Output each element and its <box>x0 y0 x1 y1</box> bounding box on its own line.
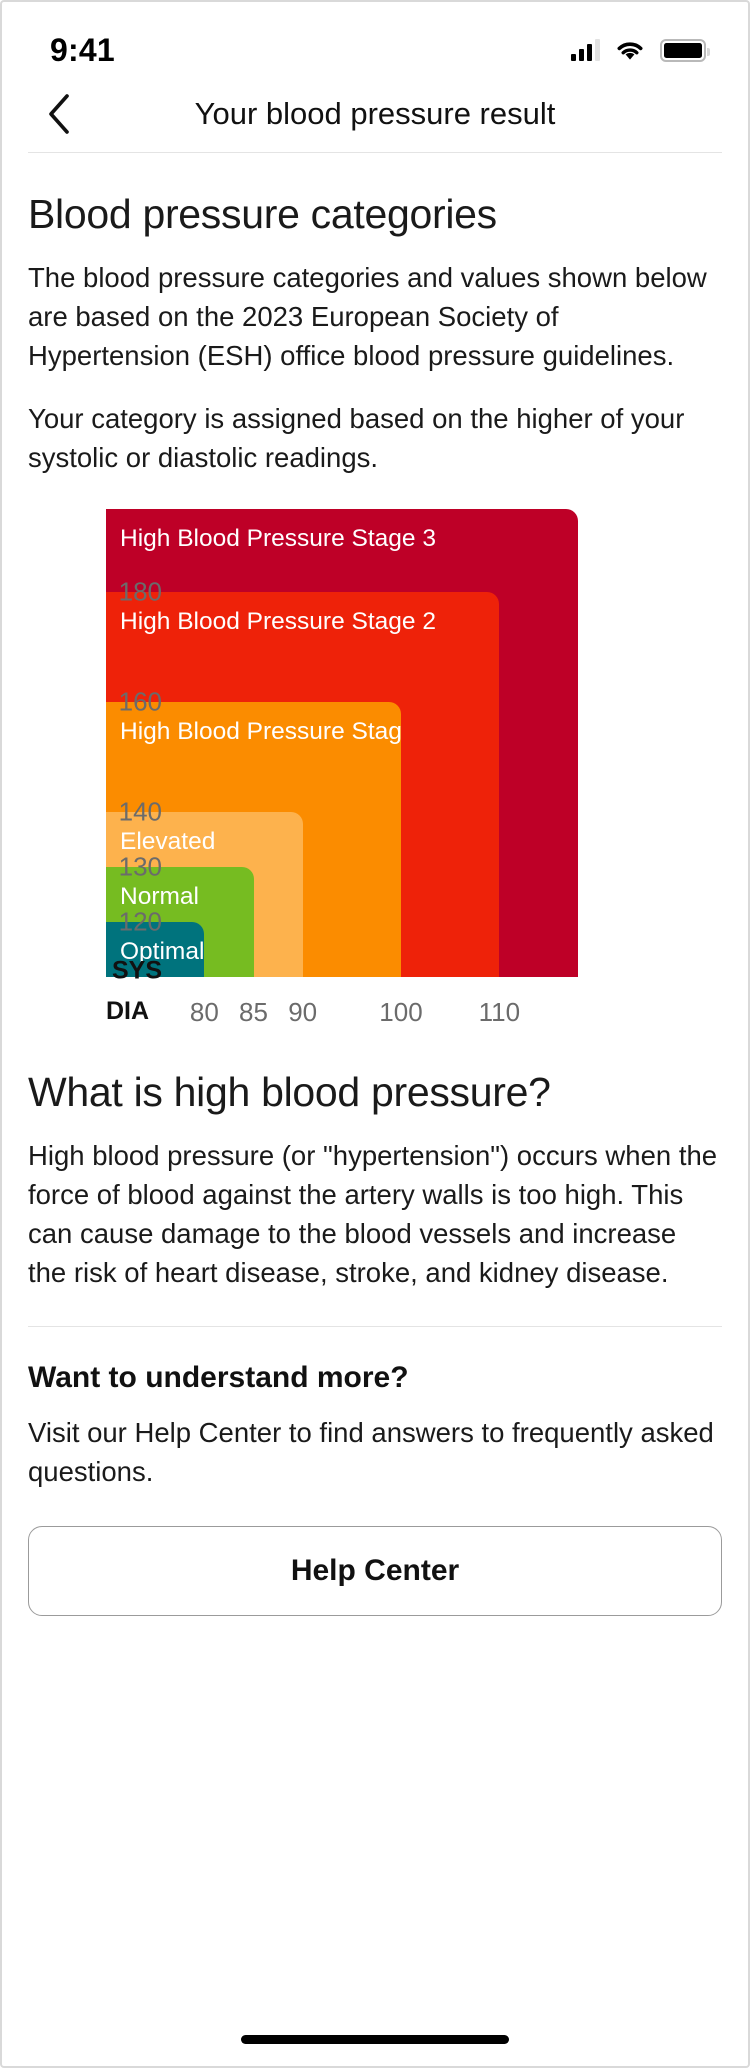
what-is-heading: What is high blood pressure? <box>28 1069 722 1116</box>
home-indicator <box>241 2035 509 2044</box>
main-content: Blood pressure categories The blood pres… <box>2 191 748 1616</box>
content-divider <box>28 1326 722 1327</box>
y-axis-tick: 140 <box>72 797 162 828</box>
header-divider <box>28 152 722 153</box>
x-axis-label: DIA <box>106 997 149 1026</box>
battery-full-icon <box>660 39 706 62</box>
y-axis-label: SYS <box>72 957 162 986</box>
chevron-left-icon <box>46 92 72 136</box>
what-is-paragraph: High blood pressure (or "hypertension") … <box>28 1136 722 1292</box>
status-bar-indicators <box>571 39 706 62</box>
status-bar-time: 9:41 <box>50 32 115 69</box>
help-center-button-label: Help Center <box>291 1554 459 1588</box>
x-axis-tick: 80 <box>190 997 219 1028</box>
x-axis-tick: 110 <box>479 997 520 1028</box>
y-axis-tick: 120 <box>72 907 162 938</box>
chart-plot-area: High Blood Pressure Stage 3High Blood Pr… <box>106 509 578 977</box>
y-axis-tick: 160 <box>72 686 162 717</box>
categories-paragraph-2: Your category is assigned based on the h… <box>28 399 722 477</box>
x-axis-tick: 90 <box>288 997 317 1028</box>
categories-paragraph-1: The blood pressure categories and values… <box>28 258 722 375</box>
status-bar: 9:41 <box>2 2 748 76</box>
chart-band-label: High Blood Pressure Stage 1 <box>120 718 401 746</box>
y-axis-tick: 180 <box>72 576 162 607</box>
chart-band-label: High Blood Pressure Stage 3 <box>120 525 436 553</box>
understand-more-heading: Want to understand more? <box>28 1361 722 1395</box>
blood-pressure-category-chart: High Blood Pressure Stage 3High Blood Pr… <box>28 501 722 1031</box>
y-axis-tick: 130 <box>72 852 162 883</box>
chart-band-label: High Blood Pressure Stage 2 <box>120 608 436 636</box>
page-title: Your blood pressure result <box>2 96 748 132</box>
back-button[interactable] <box>30 85 88 143</box>
cellular-signal-icon <box>571 39 600 61</box>
understand-more-paragraph: Visit our Help Center to find answers to… <box>28 1413 722 1491</box>
chart-x-axis: DIA 808590100110 <box>28 997 722 1037</box>
phone-screen: 9:41 Your blood pressure result <box>0 0 750 2068</box>
wifi-icon <box>616 40 644 61</box>
x-axis-tick: 85 <box>239 997 268 1028</box>
help-center-button[interactable]: Help Center <box>28 1526 722 1616</box>
navigation-bar: Your blood pressure result <box>2 76 748 152</box>
categories-heading: Blood pressure categories <box>28 191 722 238</box>
x-axis-tick: 100 <box>379 997 422 1028</box>
